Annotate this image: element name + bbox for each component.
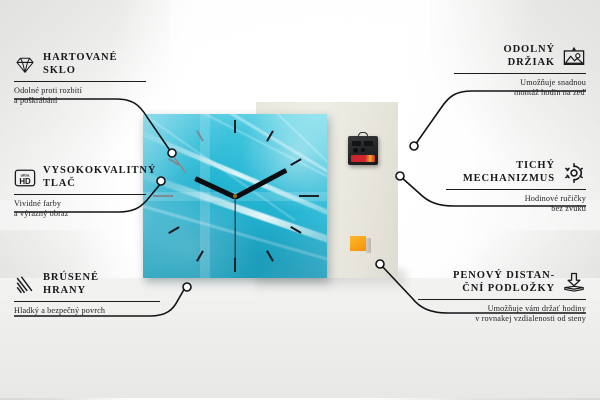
feature-title: VYSOKOKVALITNÝ TLAČ xyxy=(43,165,156,190)
feature-head: PENOVÝ DISTAN- ČNÍ PODLOŽKY xyxy=(418,270,586,295)
feature-title: PENOVÝ DISTAN- ČNÍ PODLOŽKY xyxy=(418,270,555,295)
feature-description: Hladký a bezpečný povrch xyxy=(14,306,160,316)
feature-divider xyxy=(454,73,586,74)
feature-foam-spacers[interactable]: PENOVÝ DISTAN- ČNÍ PODLOŽKY Umožňuje vám… xyxy=(418,270,586,324)
connector-endpoint-right-2 xyxy=(396,172,404,180)
feature-head: TICHÝ MECHANIZMUS xyxy=(446,160,586,185)
feature-title: BRÚSENÉ HRANY xyxy=(43,272,99,297)
feature-divider xyxy=(14,194,146,195)
foam-pad-arrow-icon xyxy=(562,272,586,294)
connector-endpoint-left-2 xyxy=(157,177,165,185)
feature-head: ODOLNÝ DRŽIAK xyxy=(454,44,586,69)
feature-description: Vividné farby a výrazný obraz xyxy=(14,199,146,219)
feature-divider xyxy=(418,299,586,300)
picture-hanger-icon xyxy=(562,46,586,68)
feature-silent-mechanism[interactable]: TICHÝ MECHANIZMUS Hodinové ručičky bez z… xyxy=(446,160,586,214)
feature-description: Umožňuje snadnou montáž hodin na zeď xyxy=(454,78,586,98)
infographic-stage: HARTOVANÉ SKLO Odolné proti rozbití a po… xyxy=(0,0,600,400)
feature-head: BRÚSENÉ HRANY xyxy=(14,272,160,297)
feature-description: Odolné proti rozbití a poškrábání xyxy=(14,86,146,106)
feature-divider xyxy=(14,301,160,302)
feature-title: TICHÝ MECHANIZMUS xyxy=(446,160,555,185)
feature-head: HARTOVANÉ SKLO xyxy=(14,52,146,77)
feature-title: ODOLNÝ DRŽIAK xyxy=(454,44,555,69)
feature-hardened-glass[interactable]: HARTOVANÉ SKLO Odolné proti rozbití a po… xyxy=(14,52,146,106)
feature-high-quality-print[interactable]: ultra HD VYSOKOKVALITNÝ TLAČ Vividné far… xyxy=(14,165,146,219)
feature-divider xyxy=(446,189,586,190)
connector-endpoint-right-3 xyxy=(376,260,384,268)
feature-head: ultra HD VYSOKOKVALITNÝ TLAČ xyxy=(14,165,146,190)
feature-divider xyxy=(14,81,146,82)
diamond-icon xyxy=(14,54,36,76)
brushed-edges-icon xyxy=(14,274,36,296)
feature-ground-edges[interactable]: BRÚSENÉ HRANY Hladký a bezpečný povrch xyxy=(14,272,160,316)
connector-line-left-1 xyxy=(14,99,171,152)
feature-title: HARTOVANÉ SKLO xyxy=(43,52,117,77)
feature-durable-hanger[interactable]: ODOLNÝ DRŽIAK Umožňuje snadnou montáž ho… xyxy=(454,44,586,98)
connector-line-right-1 xyxy=(415,91,586,145)
gear-icon xyxy=(562,162,586,184)
svg-text:HD: HD xyxy=(19,176,31,185)
ultra-hd-icon: ultra HD xyxy=(14,167,36,189)
connector-endpoint-right-1 xyxy=(410,142,418,150)
connector-tail-left-1 xyxy=(174,157,186,173)
connector-endpoint-left-1 xyxy=(168,149,176,157)
connector-endpoint-left-3 xyxy=(183,283,191,291)
feature-description: Umožňuje vám držať hodiny v rovnakej vzd… xyxy=(418,304,586,324)
feature-description: Hodinové ručičky bez zvuku xyxy=(446,194,586,214)
